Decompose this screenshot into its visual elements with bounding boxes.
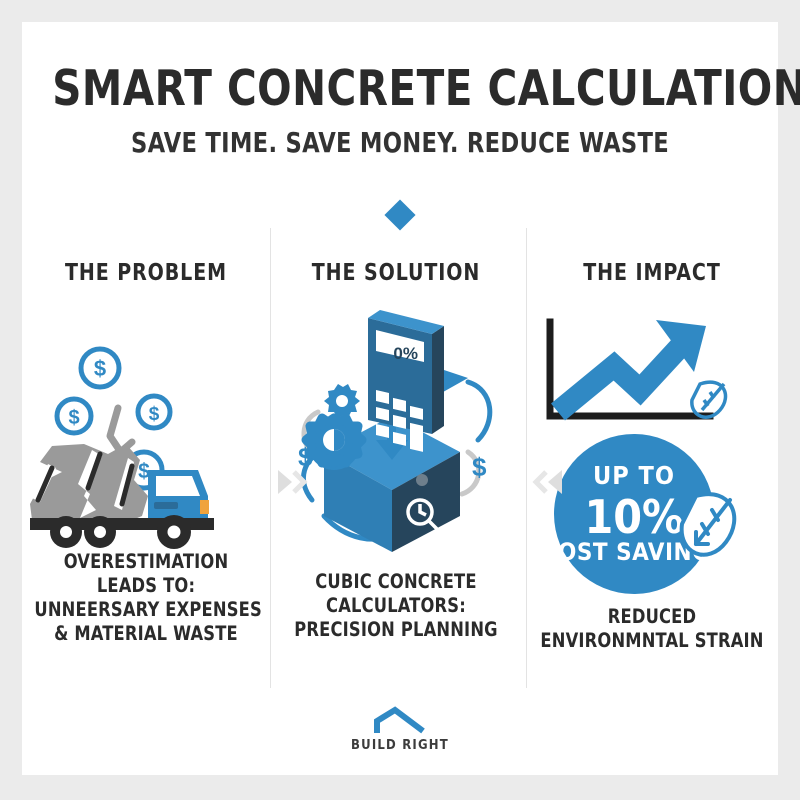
eco-leaf-icon-small — [692, 382, 726, 417]
caption-line: UNNEERSARY EXPENSES — [34, 598, 257, 622]
column-divider-right — [526, 228, 527, 688]
caption-solution: CUBIC CONCRETE CALCULATORS: PRECISION PL… — [284, 570, 507, 642]
roof-chevron-logo — [373, 709, 427, 735]
caption-line: REDUCED — [540, 605, 763, 629]
badge-value: 10% — [584, 490, 683, 544]
impact-artwork: UP TO 10% COST SAVINGS — [528, 304, 776, 554]
caption-line: LEADS TO: — [34, 574, 257, 598]
page-subtitle: SAVE TIME. SAVE MONEY. REDUCE WASTE — [60, 126, 740, 159]
infographic-card: SMART CONCRETE CALCULATIONS SAVE TIME. S… — [22, 22, 778, 775]
svg-text:$: $ — [68, 407, 79, 429]
double-chevron-right-icon — [274, 464, 310, 500]
calculator-cube-gears-icon: $ $ — [272, 304, 520, 554]
page-title: SMART CONCRETE CALCULATIONS — [52, 60, 748, 117]
caption-line: OVERESTIMATION — [34, 550, 257, 574]
brand-name: BUILD RIGHT — [22, 738, 778, 753]
caption-line: CUBIC CONCRETE — [284, 570, 507, 594]
money-label-right: $ — [472, 452, 487, 482]
calculator-display-value: 0% — [393, 344, 418, 363]
diamond-marker-icon — [384, 199, 415, 230]
svg-text:$: $ — [149, 404, 160, 425]
column-divider-left — [270, 228, 271, 688]
caption-line: CALCULATORS: — [284, 594, 507, 618]
footer: BUILD RIGHT — [22, 709, 778, 753]
caption-problem: OVERESTIMATION LEADS TO: UNNEERSARY EXPE… — [34, 550, 257, 646]
column-heading-impact: THE IMPACT — [538, 260, 766, 286]
caption-line: PRECISION PLANNING — [284, 618, 507, 642]
growth-arrow-chart-icon — [550, 320, 710, 416]
caption-line: ENVIRONMNTAL STRAIN — [540, 629, 763, 653]
column-heading-problem: THE PROBLEM — [32, 260, 260, 286]
svg-text:$: $ — [94, 356, 106, 381]
caption-line: & MATERIAL WASTE — [34, 622, 257, 646]
double-chevron-left-icon — [530, 464, 566, 500]
badge-top-label: UP TO — [593, 461, 675, 490]
caption-impact: REDUCED ENVIRONMNTAL STRAIN — [540, 605, 763, 653]
page-frame: SMART CONCRETE CALCULATIONS SAVE TIME. S… — [0, 0, 800, 800]
cracked-cement-mixer-truck-icon: $ $ $ $ — [22, 304, 270, 554]
column-heading-solution: THE SOLUTION — [282, 260, 510, 286]
column-problem: THE PROBLEM $ $ $ $ — [22, 260, 270, 680]
